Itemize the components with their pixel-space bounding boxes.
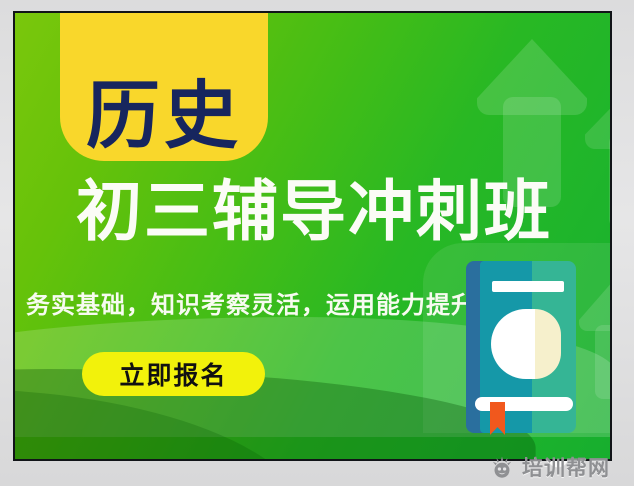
arrow-head xyxy=(585,83,612,149)
banner-headline: 初三辅导冲刺班 xyxy=(21,179,607,245)
subject-badge-label: 历史 xyxy=(86,79,242,153)
enroll-now-button[interactable]: 立即报名 xyxy=(82,352,265,396)
arrow-shaft xyxy=(609,133,612,229)
promo-banner[interactable]: 历史 初三辅导冲刺班 务实基础，知识考察灵活，运用能力提升 立即报名 xyxy=(13,11,612,461)
watermark-label: 培训帮网 xyxy=(522,452,610,482)
banner-subtitle: 务实基础，知识考察灵活，运用能力提升 xyxy=(21,285,481,320)
book-bottom-bar xyxy=(475,397,573,411)
screenshot-root: 历史 初三辅导冲刺班 务实基础，知识考察灵活，运用能力提升 立即报名 xyxy=(0,0,634,486)
textbook-icon xyxy=(466,261,576,433)
book-title-bar xyxy=(492,281,564,292)
subject-badge: 历史 xyxy=(60,11,268,161)
watermark: 培训帮网 xyxy=(489,452,610,482)
smiling-sun-face-icon xyxy=(489,454,515,480)
enroll-now-label: 立即报名 xyxy=(119,356,227,392)
